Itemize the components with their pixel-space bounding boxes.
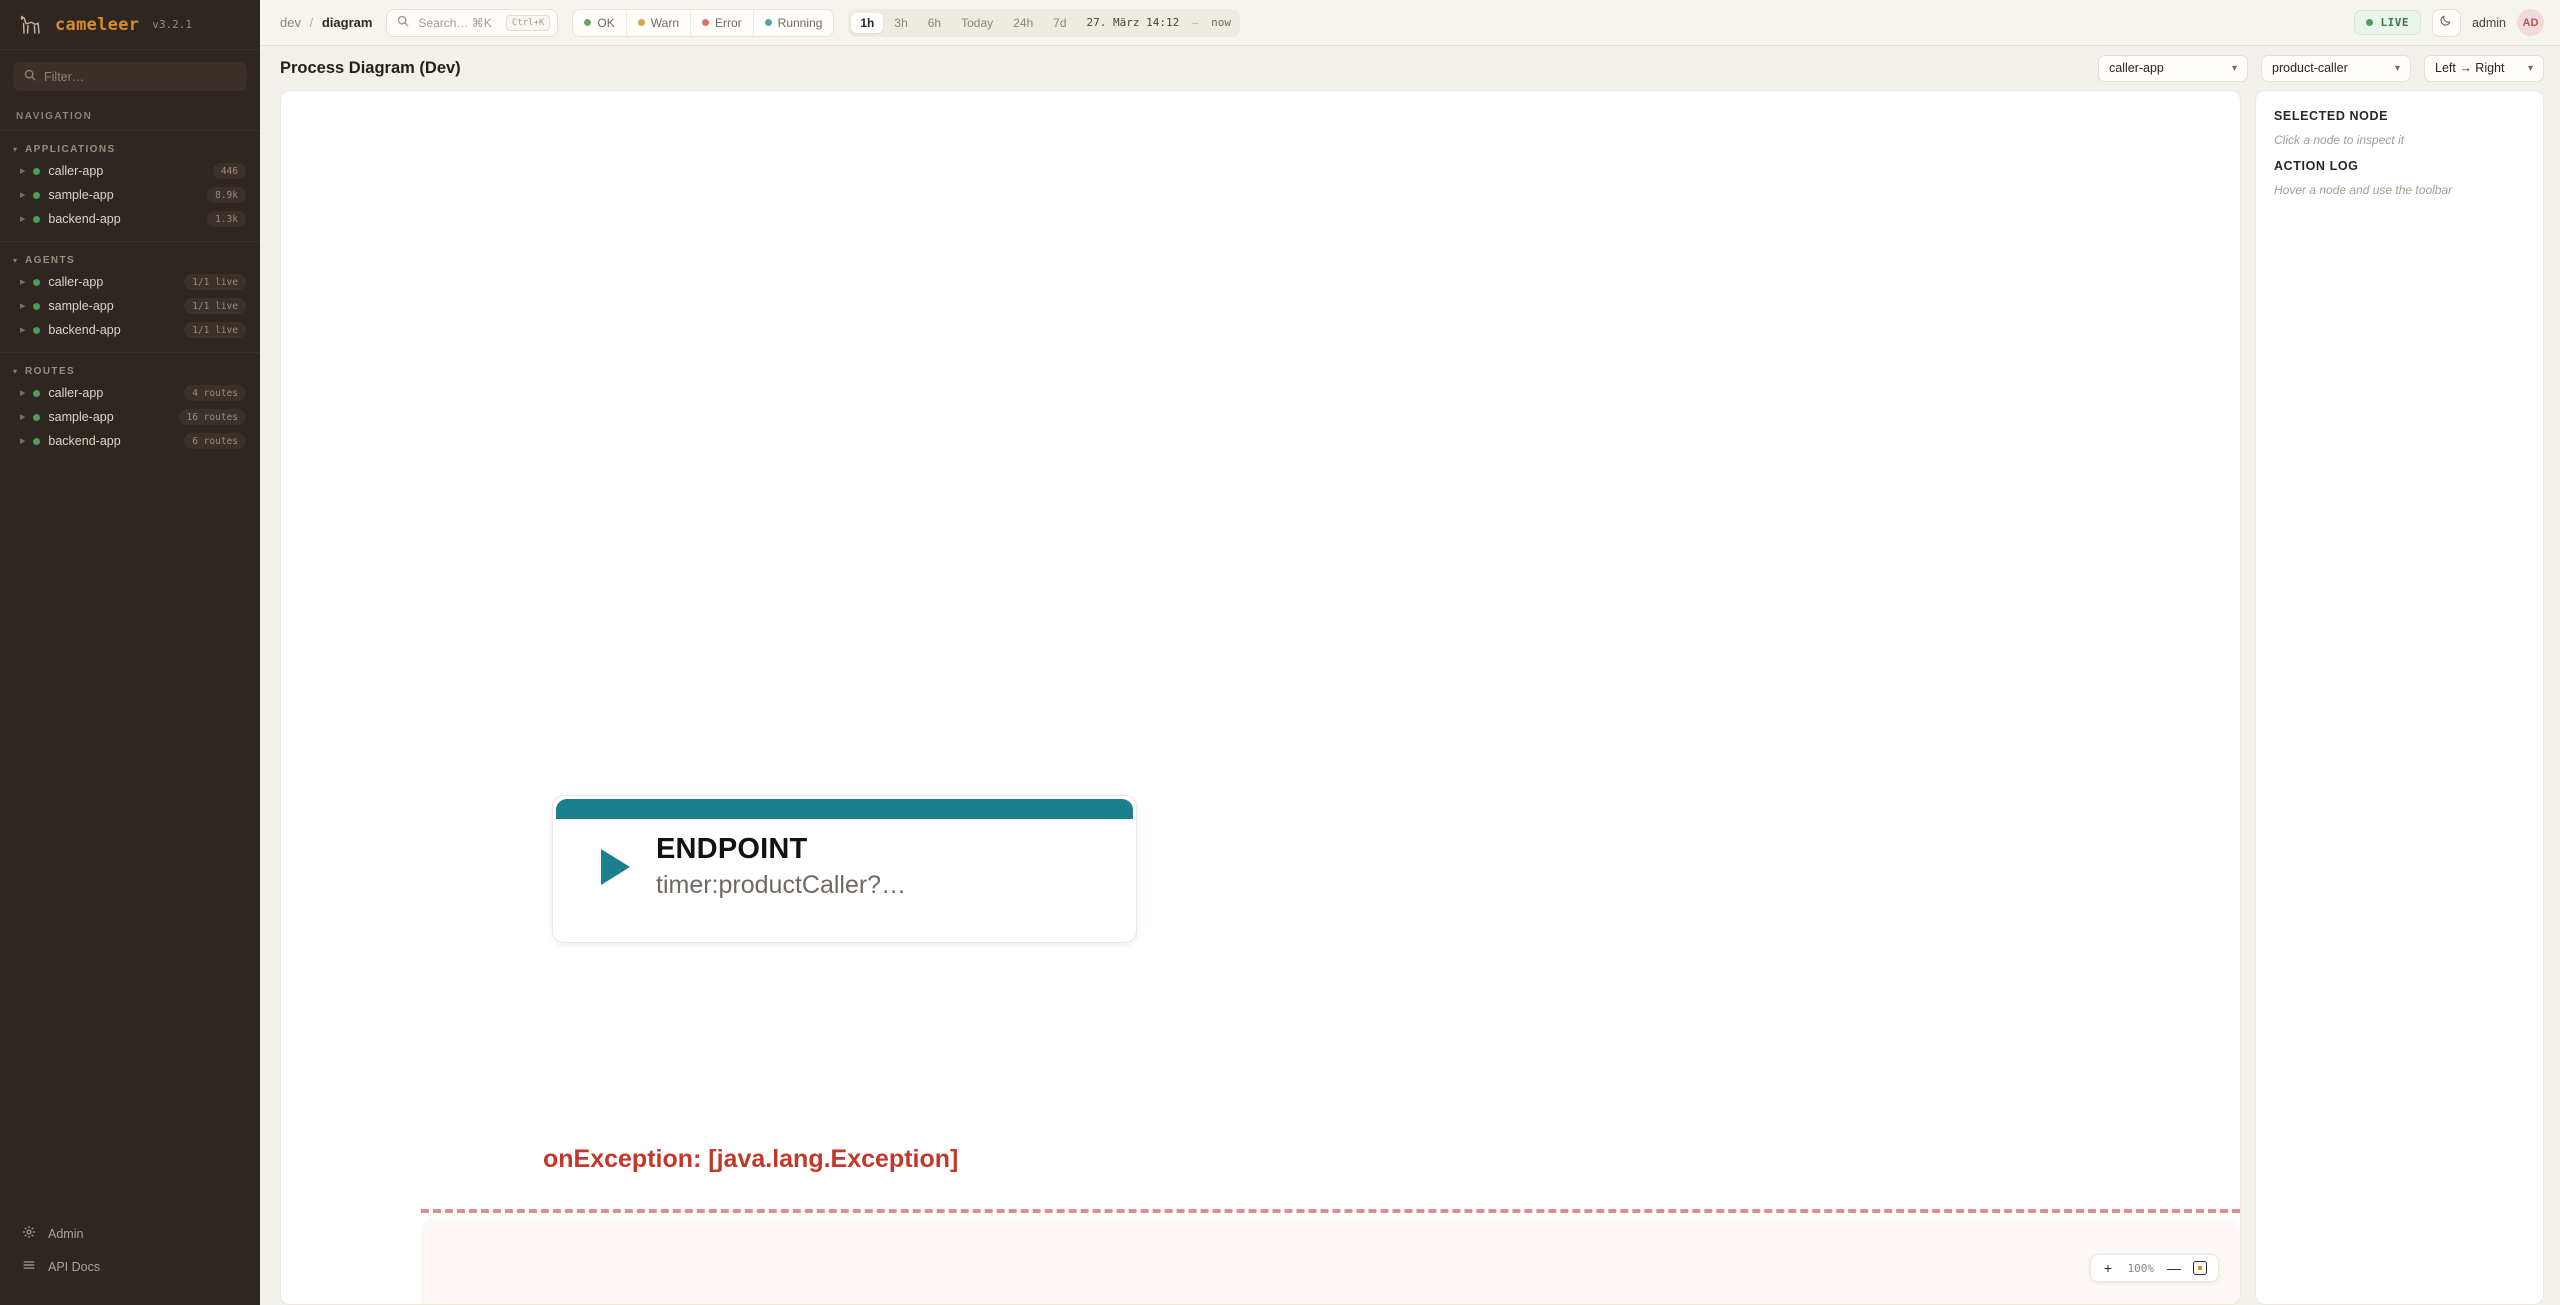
section-header-applications[interactable]: ▾ APPLICATIONS	[0, 140, 260, 159]
chevron-down-icon: ▾	[13, 146, 17, 154]
page-title: Process Diagram (Dev)	[280, 59, 461, 78]
search-input[interactable]: Search… ⌘K Ctrl+K	[386, 9, 558, 37]
action-log-title: ACTION LOG	[2274, 159, 2525, 173]
content-area: ENDPOINT timer:productCaller?… onExcepti…	[260, 90, 2560, 1305]
node-accent-bar	[556, 799, 1133, 819]
route-select[interactable]: product-caller ▾	[2261, 55, 2411, 82]
item-label: backend-app	[48, 323, 176, 337]
nav-section-routes: ▾ ROUTES ▶ caller-app 4 routes ▶ sample-…	[0, 352, 260, 463]
chevron-right-icon: ▶	[20, 279, 25, 286]
item-label: caller-app	[48, 386, 176, 400]
section-header-routes[interactable]: ▾ ROUTES	[0, 362, 260, 381]
zoom-controls: + 100% —	[2090, 1254, 2220, 1282]
status-dot	[2366, 19, 2373, 26]
diagram-canvas[interactable]: ENDPOINT timer:productCaller?… onExcepti…	[280, 90, 2241, 1305]
avatar-initials: AD	[2523, 17, 2539, 29]
status-dot	[702, 19, 709, 26]
topbar: dev / diagram Search… ⌘K Ctrl+K OK	[260, 0, 2560, 46]
filter-container	[0, 50, 260, 101]
selected-node-hint: Click a node to inspect it	[2274, 133, 2525, 147]
action-log-hint: Hover a node and use the toolbar	[2274, 183, 2525, 197]
direction-select[interactable]: Left → Right ▾	[2424, 55, 2544, 82]
range-6h[interactable]: 6h	[919, 13, 950, 33]
status-dot	[33, 279, 40, 286]
status-filter-group: OK Warn Error Running	[572, 9, 834, 37]
sidebar-item-agents-caller-app[interactable]: ▶ caller-app 1/1 live	[0, 270, 260, 294]
exception-region	[421, 1219, 2240, 1304]
application-select[interactable]: caller-app ▾	[2098, 55, 2248, 82]
sidebar-item-applications-sample-app[interactable]: ▶ sample-app 8.9k	[0, 183, 260, 207]
brand-name: cameleer	[55, 15, 139, 35]
moon-icon	[2439, 13, 2453, 32]
search-shortcut-badge: Ctrl+K	[506, 15, 551, 31]
sidebar-item-applications-caller-app[interactable]: ▶ caller-app 446	[0, 159, 260, 183]
main-area: dev / diagram Search… ⌘K Ctrl+K OK	[260, 0, 2560, 1305]
zoom-out-button[interactable]: —	[2167, 1261, 2180, 1275]
item-label: sample-app	[48, 188, 199, 202]
status-filter-label: Error	[715, 16, 742, 30]
item-label: backend-app	[48, 212, 199, 226]
status-filter-error[interactable]: Error	[691, 10, 754, 36]
chevron-down-icon: ▾	[13, 368, 17, 376]
play-icon	[601, 849, 630, 885]
item-label: sample-app	[48, 299, 176, 313]
sidebar-item-label: Admin	[48, 1227, 83, 1241]
selected-node-title: SELECTED NODE	[2274, 109, 2525, 123]
status-filter-label: Running	[778, 16, 823, 30]
breadcrumb-separator: /	[310, 15, 314, 30]
page-header: Process Diagram (Dev) caller-app ▾ produ…	[260, 46, 2560, 90]
brand[interactable]: cameleer v3.2.1	[0, 0, 260, 50]
status-dot	[33, 216, 40, 223]
item-badge: 8.9k	[207, 187, 246, 203]
exception-divider	[421, 1209, 2240, 1213]
status-dot	[33, 192, 40, 199]
range-dash: —	[1192, 16, 1199, 29]
filter-box[interactable]	[13, 62, 247, 91]
filter-input[interactable]	[44, 70, 236, 84]
range-to: now	[1211, 16, 1231, 29]
search-icon	[24, 68, 36, 86]
live-label: LIVE	[2380, 16, 2409, 29]
section-label: ROUTES	[25, 366, 75, 377]
sidebar-item-routes-caller-app[interactable]: ▶ caller-app 4 routes	[0, 381, 260, 405]
topbar-right: LIVE admin AD	[2354, 9, 2544, 37]
nav-section-applications: ▾ APPLICATIONS ▶ caller-app 446 ▶ sample…	[0, 130, 260, 241]
status-filter-ok[interactable]: OK	[573, 10, 626, 36]
range-3h[interactable]: 3h	[885, 13, 916, 33]
zoom-level-label: 100%	[2128, 1262, 2155, 1275]
node-uri-label: timer:productCaller?…	[656, 871, 906, 900]
app-root: cameleer v3.2.1 NAVIGATION ▾ APPLICATION…	[0, 0, 2560, 1305]
search-icon	[397, 14, 409, 32]
chevron-right-icon: ▶	[20, 390, 25, 397]
chevron-right-icon: ▶	[20, 192, 25, 199]
node-texts: ENDPOINT timer:productCaller?…	[656, 833, 906, 900]
exception-label: onException: [java.lang.Exception]	[543, 1145, 958, 1174]
sidebar-footer: Admin API Docs	[0, 1217, 260, 1305]
select-value: product-caller	[2272, 61, 2383, 75]
breadcrumb-root[interactable]: dev	[280, 15, 301, 30]
sidebar-item-agents-backend-app[interactable]: ▶ backend-app 1/1 live	[0, 318, 260, 342]
time-range-group: 1h 3h 6h Today 24h 7d 27. März 14:12 — n…	[848, 9, 1240, 37]
status-filter-warn[interactable]: Warn	[627, 10, 691, 36]
status-dot	[33, 438, 40, 445]
fit-to-screen-icon[interactable]	[2193, 1261, 2207, 1275]
chevron-right-icon: ▶	[20, 168, 25, 175]
chevron-down-icon: ▾	[2528, 63, 2533, 74]
sidebar-spacer	[0, 463, 260, 1217]
chevron-down-icon: ▾	[13, 257, 17, 265]
node-kind-label: ENDPOINT	[656, 833, 906, 866]
item-badge: 16 routes	[179, 409, 246, 425]
section-label: APPLICATIONS	[25, 144, 116, 155]
status-filter-label: Warn	[651, 16, 679, 30]
status-filter-running[interactable]: Running	[754, 10, 834, 36]
section-header-agents[interactable]: ▾ AGENTS	[0, 251, 260, 270]
status-dot	[33, 327, 40, 334]
chevron-right-icon: ▶	[20, 303, 25, 310]
item-label: sample-app	[48, 410, 170, 424]
node-body: ENDPOINT timer:productCaller?…	[553, 819, 1136, 900]
item-badge: 1/1 live	[184, 298, 246, 314]
brand-version: v3.2.1	[152, 18, 192, 31]
item-label: caller-app	[48, 164, 204, 178]
item-badge: 1/1 live	[184, 322, 246, 338]
status-dot	[584, 19, 591, 26]
item-label: backend-app	[48, 434, 176, 448]
zoom-in-button[interactable]: +	[2102, 1261, 2115, 1275]
sidebar-item-label: API Docs	[48, 1260, 100, 1274]
sidebar: cameleer v3.2.1 NAVIGATION ▾ APPLICATION…	[0, 0, 260, 1305]
gear-icon	[22, 1225, 36, 1242]
sidebar-item-agents-sample-app[interactable]: ▶ sample-app 1/1 live	[0, 294, 260, 318]
chevron-down-icon: ▾	[2395, 63, 2400, 74]
chevron-down-icon: ▾	[2232, 63, 2237, 74]
theme-toggle-button[interactable]	[2432, 9, 2461, 37]
status-dot	[33, 390, 40, 397]
item-label: caller-app	[48, 275, 176, 289]
item-badge: 1/1 live	[184, 274, 246, 290]
range-1h[interactable]: 1h	[851, 13, 883, 33]
chevron-right-icon: ▶	[20, 216, 25, 223]
sidebar-item-routes-backend-app[interactable]: ▶ backend-app 6 routes	[0, 429, 260, 453]
sidebar-item-admin[interactable]: Admin	[0, 1217, 260, 1250]
navigation-title: NAVIGATION	[0, 101, 260, 130]
select-value: caller-app	[2109, 61, 2220, 75]
camel-icon	[18, 12, 44, 38]
range-7d[interactable]: 7d	[1044, 13, 1075, 33]
status-dot	[33, 168, 40, 175]
item-badge: 4 routes	[184, 385, 246, 401]
chevron-right-icon: ▶	[20, 327, 25, 334]
user-name: admin	[2472, 16, 2506, 30]
status-dot	[33, 414, 40, 421]
item-badge: 6 routes	[184, 433, 246, 449]
select-value: Left → Right	[2435, 61, 2516, 75]
diagram-node-endpoint[interactable]: ENDPOINT timer:productCaller?…	[552, 795, 1137, 943]
range-24h[interactable]: 24h	[1004, 13, 1042, 33]
chevron-right-icon: ▶	[20, 414, 25, 421]
sidebar-item-applications-backend-app[interactable]: ▶ backend-app 1.3k	[0, 207, 260, 231]
item-badge: 1.3k	[207, 211, 246, 227]
page-controls: caller-app ▾ product-caller ▾ Left → Rig…	[2098, 55, 2544, 82]
chevron-right-icon: ▶	[20, 438, 25, 445]
section-label: AGENTS	[25, 255, 75, 266]
item-badge: 446	[213, 163, 246, 179]
range-from: 27. März 14:12	[1087, 16, 1180, 29]
breadcrumb-current: diagram	[322, 15, 373, 30]
status-dot	[765, 19, 772, 26]
range-today[interactable]: Today	[952, 13, 1002, 33]
search-placeholder: Search… ⌘K	[418, 16, 496, 30]
inspector-panel: SELECTED NODE Click a node to inspect it…	[2255, 90, 2544, 1305]
menu-icon	[22, 1258, 36, 1275]
breadcrumb[interactable]: dev / diagram	[280, 15, 372, 30]
live-status-badge[interactable]: LIVE	[2354, 10, 2421, 35]
time-range-display[interactable]: 27. März 14:12 — now	[1087, 16, 1231, 29]
status-filter-label: OK	[597, 16, 614, 30]
nav-section-agents: ▾ AGENTS ▶ caller-app 1/1 live ▶ sample-…	[0, 241, 260, 352]
sidebar-item-routes-sample-app[interactable]: ▶ sample-app 16 routes	[0, 405, 260, 429]
status-dot	[638, 19, 645, 26]
status-dot	[33, 303, 40, 310]
avatar[interactable]: AD	[2517, 9, 2544, 36]
sidebar-item-api-docs[interactable]: API Docs	[0, 1250, 260, 1283]
